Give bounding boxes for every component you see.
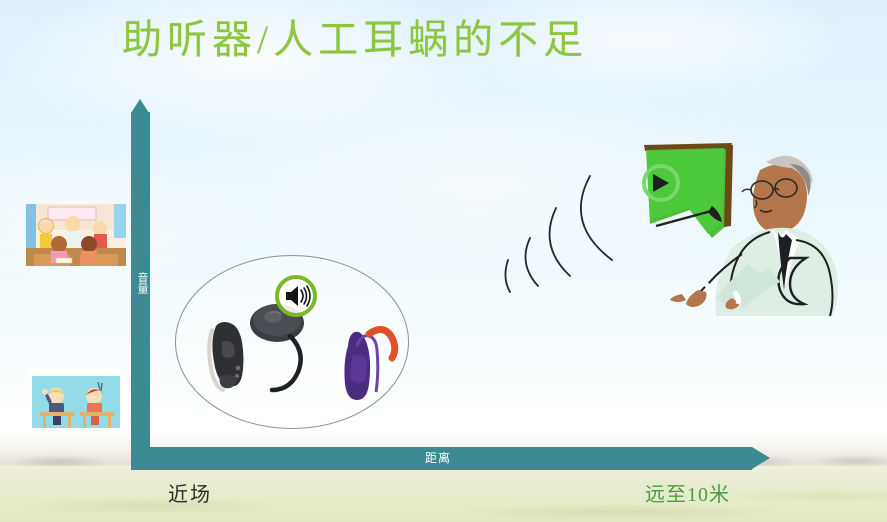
behind-the-ear-aid-purple — [344, 329, 394, 400]
green-board — [644, 143, 733, 238]
volume-axis-label: 音量 — [133, 272, 148, 294]
students-at-desks-photo — [26, 368, 126, 430]
behind-the-ear-aid-black — [209, 322, 243, 390]
teacher-head — [742, 156, 812, 233]
page-title: 助听器/人工耳蜗的不足 — [122, 12, 588, 68]
far-field-caption: 远至10米 — [645, 481, 730, 509]
distance-axis-arrowhead — [752, 447, 770, 469]
background-grass-field — [0, 466, 887, 522]
classroom-photo — [26, 204, 126, 266]
speaker-icon — [275, 275, 317, 317]
volume-axis-arrowhead — [131, 99, 149, 113]
near-field-caption: 近场 — [168, 481, 212, 509]
slide-canvas: 助听器/人工耳蜗的不足 音量 距离 近场 远至10米 — [0, 0, 887, 522]
teacher-pointing-figure — [620, 128, 887, 318]
distance-axis-label: 距离 — [425, 450, 451, 467]
